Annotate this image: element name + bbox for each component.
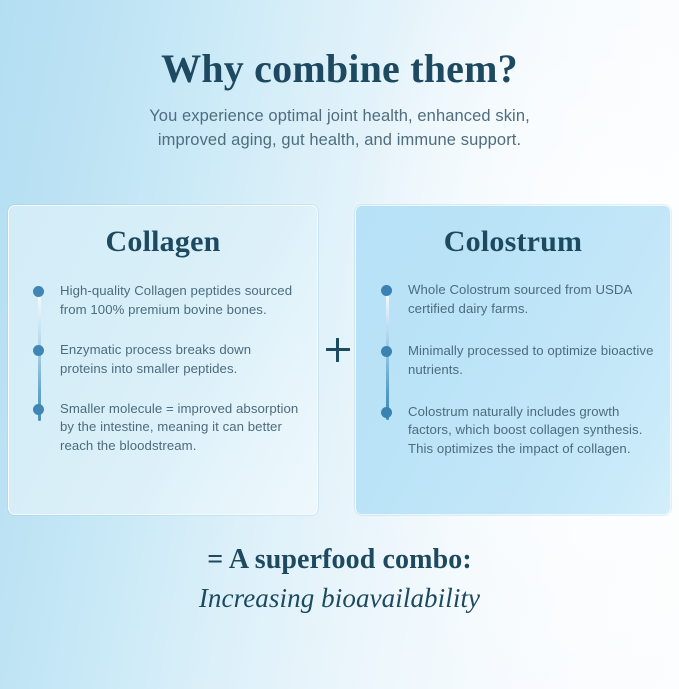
card-colostrum: Colostrum Whole Colostrum sourced from U… [355, 205, 671, 515]
plus-icon-vertical-bar [336, 338, 339, 362]
bullet-text: Minimally processed to optimize bioactiv… [408, 342, 656, 380]
list-item: Smaller molecule = improved absorption b… [33, 400, 299, 457]
list-item: Enzymatic process breaks down proteins i… [33, 341, 299, 379]
bullet-dot-icon [381, 346, 392, 357]
list-item: Whole Colostrum sourced from USDA certif… [381, 281, 656, 319]
footer-headline: = A superfood combo: [0, 543, 679, 576]
bullet-dot-icon [33, 286, 44, 297]
list-item: Colostrum naturally includes growth fact… [381, 403, 656, 460]
bullet-dot-icon [33, 345, 44, 356]
header-section: Why combine them? You experience optimal… [0, 0, 679, 152]
subtitle-line-2: improved aging, gut health, and immune s… [100, 129, 580, 152]
page-title: Why combine them? [0, 47, 679, 90]
card-colostrum-bullet-list: Whole Colostrum sourced from USDA certif… [356, 281, 670, 459]
bullet-text: Smaller molecule = improved absorption b… [60, 400, 299, 457]
subtitle-line-1: You experience optimal joint health, enh… [149, 107, 530, 125]
bullet-dot-icon [33, 404, 44, 415]
footer-subheadline: Increasing bioavailability [0, 582, 679, 614]
bullet-text: High-quality Collagen peptides sourced f… [60, 282, 299, 320]
list-item: High-quality Collagen peptides sourced f… [33, 282, 299, 320]
plus-icon [326, 338, 350, 362]
subtitle: You experience optimal joint health, enh… [100, 105, 580, 152]
card-colostrum-title: Colostrum [356, 206, 670, 257]
card-collagen-title: Collagen [9, 206, 317, 257]
bullet-text: Colostrum naturally includes growth fact… [408, 403, 656, 460]
list-item: Minimally processed to optimize bioactiv… [381, 342, 656, 380]
card-collagen-bullet-list: High-quality Collagen peptides sourced f… [9, 282, 317, 456]
card-collagen: Collagen High-quality Collagen peptides … [8, 205, 318, 515]
bullet-dot-icon [381, 407, 392, 418]
bullet-dot-icon [381, 285, 392, 296]
infographic-poster: Why combine them? You experience optimal… [0, 0, 679, 689]
bullet-text: Whole Colostrum sourced from USDA certif… [408, 281, 656, 319]
footer-section: = A superfood combo: Increasing bioavail… [0, 543, 679, 614]
bullet-text: Enzymatic process breaks down proteins i… [60, 341, 299, 379]
